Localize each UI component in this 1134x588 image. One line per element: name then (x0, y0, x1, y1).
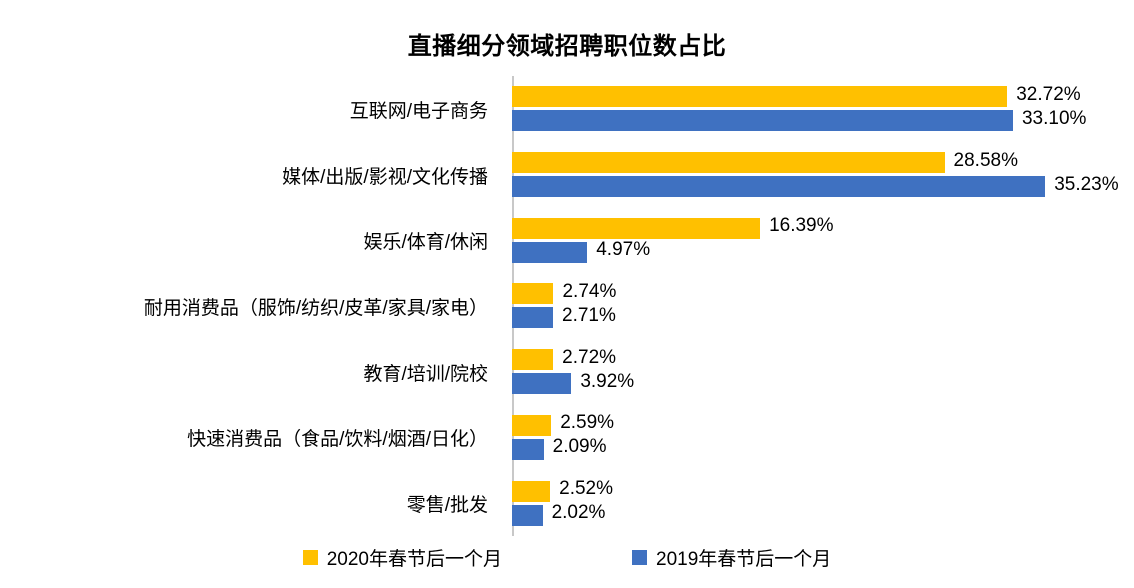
category-label: 零售/批发 (0, 490, 500, 517)
category-label: 媒体/出版/影视/文化传播 (0, 162, 500, 189)
plot-area: 互联网/电子商务32.72%33.10%媒体/出版/影视/文化传播28.58%3… (512, 76, 1072, 536)
legend-swatch-2020 (303, 550, 318, 565)
category-label: 快速消费品（食品/饮料/烟酒/日化） (0, 424, 500, 451)
bar-2019 (512, 242, 587, 263)
bar-value-label: 2.71% (562, 305, 616, 327)
chart-title: 直播细分领域招聘职位数占比 (0, 26, 1134, 61)
bar-2019 (512, 505, 543, 526)
bar-value-label: 3.92% (580, 371, 634, 393)
bar-value-label: 2.52% (559, 478, 613, 500)
category-label: 耐用消费品（服饰/纺织/皮革/家具/家电） (0, 293, 500, 320)
bar-group: 教育/培训/院校2.72%3.92% (512, 339, 1072, 405)
bar-value-label: 32.72% (1016, 84, 1080, 106)
bar-2020 (512, 283, 553, 304)
bar-value-label: 35.23% (1054, 174, 1118, 196)
bar-2020 (512, 86, 1007, 107)
bar-2020 (512, 152, 945, 173)
bar-group: 媒体/出版/影视/文化传播28.58%35.23% (512, 142, 1072, 208)
category-label: 互联网/电子商务 (0, 96, 500, 123)
bar-value-label: 4.97% (596, 239, 650, 261)
bar-2019 (512, 373, 571, 394)
bar-value-label: 2.72% (562, 347, 616, 369)
bar-value-label: 2.59% (560, 412, 614, 434)
bar-group: 耐用消费品（服饰/纺织/皮革/家具/家电）2.74%2.71% (512, 273, 1072, 339)
chart-legend: 2020年春节后一个月 2019年春节后一个月 (0, 544, 1134, 571)
bar-2019 (512, 307, 553, 328)
bar-2020 (512, 481, 550, 502)
legend-item-2020: 2020年春节后一个月 (303, 544, 502, 571)
bar-value-label: 33.10% (1022, 108, 1086, 130)
legend-swatch-2019 (632, 550, 647, 565)
bar-2019 (512, 439, 544, 460)
bar-2020 (512, 349, 553, 370)
bar-value-label: 2.09% (553, 436, 607, 458)
bar-2020 (512, 218, 760, 239)
bar-group: 互联网/电子商务32.72%33.10% (512, 76, 1072, 142)
legend-label-2020: 2020年春节后一个月 (327, 544, 502, 571)
bar-group: 快速消费品（食品/饮料/烟酒/日化）2.59%2.09% (512, 405, 1072, 471)
bar-2019 (512, 176, 1045, 197)
bar-value-label: 28.58% (954, 150, 1018, 172)
bar-value-label: 2.02% (552, 502, 606, 524)
category-label: 娱乐/体育/休闲 (0, 227, 500, 254)
category-label: 教育/培训/院校 (0, 359, 500, 386)
bar-group: 娱乐/体育/休闲16.39%4.97% (512, 207, 1072, 273)
bar-group: 零售/批发2.52%2.02% (512, 470, 1072, 536)
bar-value-label: 16.39% (769, 215, 833, 237)
chart-container: 直播细分领域招聘职位数占比 互联网/电子商务32.72%33.10%媒体/出版/… (0, 0, 1134, 588)
legend-item-2019: 2019年春节后一个月 (632, 544, 831, 571)
legend-label-2019: 2019年春节后一个月 (656, 544, 831, 571)
bar-2020 (512, 415, 551, 436)
bar-value-label: 2.74% (562, 281, 616, 303)
bar-2019 (512, 110, 1013, 131)
